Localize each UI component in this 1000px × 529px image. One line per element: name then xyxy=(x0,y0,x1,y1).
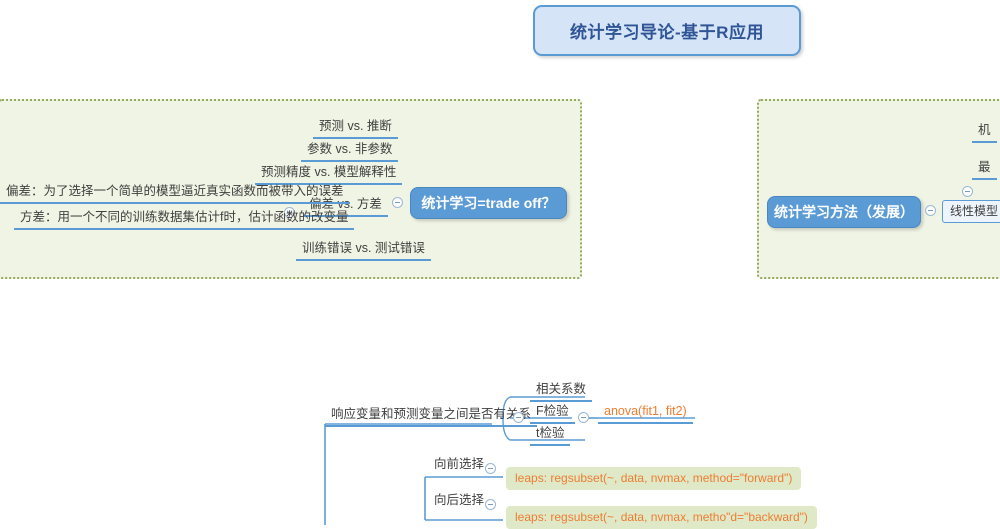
node-statistical-learning-methods[interactable]: 统计学习方法（发展） xyxy=(767,196,921,228)
node-anova-code[interactable]: anova(fit1, fit2) xyxy=(598,403,693,424)
node-label: 相关系数 xyxy=(536,382,586,396)
node-accuracy-vs-interpretability[interactable]: 预测精度 vs. 模型解释性 xyxy=(255,164,402,185)
node-method-label: 统计学习方法（发展） xyxy=(774,202,914,222)
node-clipped-最[interactable]: 最 xyxy=(972,159,997,180)
node-label: 机 xyxy=(978,123,991,137)
node-forward-selection[interactable]: 向前选择 xyxy=(428,456,490,475)
code-backward-regsubset[interactable]: leaps: regsubset(~, data, nvmax, metho"d… xyxy=(506,506,817,529)
node-label: anova(fit1, fit2) xyxy=(604,404,687,418)
collapse-toggle-linear-model[interactable] xyxy=(962,186,973,197)
node-parametric-vs-nonparametric[interactable]: 参数 vs. 非参数 xyxy=(301,141,398,162)
node-correlation-coefficient[interactable]: 相关系数 xyxy=(530,381,592,402)
node-train-vs-test-error[interactable]: 训练错误 vs. 测试错误 xyxy=(296,240,431,261)
node-response-predictor-relationship[interactable]: 响应变量和预测变量之间是否有关系 xyxy=(325,406,537,427)
root-title-label: 统计学习导论-基于R应用 xyxy=(570,18,764,43)
mindmap-canvas: 统计学习导论-基于R应用 统计学习=trade off？ 预测 vs. 推断 参… xyxy=(0,0,1000,525)
code-forward-regsubset[interactable]: leaps: regsubset(~, data, nvmax, method=… xyxy=(506,467,801,490)
note-variance-definition[interactable]: 方差：用一个不同的训练数据集估计f时，估计函数的改变量 xyxy=(14,209,354,230)
note-label: 方差：用一个不同的训练数据集估计f时，估计函数的改变量 xyxy=(20,210,348,224)
node-prediction-vs-inference[interactable]: 预测 vs. 推断 xyxy=(313,118,398,139)
node-label: 预测 vs. 推断 xyxy=(319,119,392,133)
collapse-toggle-tradeoff[interactable] xyxy=(392,197,403,208)
collapse-toggle-forward-selection[interactable] xyxy=(485,463,496,474)
note-bias-definition[interactable]: 偏差：为了选择一个简单的模型逼近真实函数而被带入的误差 xyxy=(0,183,350,204)
node-label: 向前选择 xyxy=(434,457,484,471)
node-clipped-machine[interactable]: 机 xyxy=(972,122,997,143)
node-backward-selection[interactable]: 向后选择 xyxy=(428,492,490,511)
collapse-toggle-backward-selection[interactable] xyxy=(485,499,496,510)
node-label: 响应变量和预测变量之间是否有关系 xyxy=(331,407,531,421)
node-label: 最 xyxy=(978,160,991,174)
collapse-toggle-methods[interactable] xyxy=(925,205,936,216)
collapse-toggle-relationship[interactable] xyxy=(513,412,524,423)
node-label: 训练错误 vs. 测试错误 xyxy=(302,241,425,255)
node-f-test[interactable]: F检验 xyxy=(530,403,575,424)
node-label: 预测精度 vs. 模型解释性 xyxy=(261,165,396,179)
node-t-test[interactable]: t检验 xyxy=(530,425,570,446)
node-label: t检验 xyxy=(536,426,564,440)
node-linear-model[interactable]: 线性模型 xyxy=(942,200,1000,223)
root-title-node[interactable]: 统计学习导论-基于R应用 xyxy=(533,5,801,56)
node-label: F检验 xyxy=(536,404,569,418)
note-label: 偏差：为了选择一个简单的模型逼近真实函数而被带入的误差 xyxy=(6,184,344,198)
code-label: leaps: regsubset(~, data, nvmax, metho"d… xyxy=(515,510,808,524)
node-tradeoff-label: 统计学习=trade off？ xyxy=(421,193,555,213)
collapse-toggle-f-test[interactable] xyxy=(578,412,589,423)
node-label: 向后选择 xyxy=(434,493,484,507)
node-label: 参数 vs. 非参数 xyxy=(307,142,392,156)
node-label: 线性模型 xyxy=(950,204,998,218)
code-label: leaps: regsubset(~, data, nvmax, method=… xyxy=(515,471,792,485)
node-statistical-learning-tradeoff[interactable]: 统计学习=trade off？ xyxy=(410,187,567,219)
